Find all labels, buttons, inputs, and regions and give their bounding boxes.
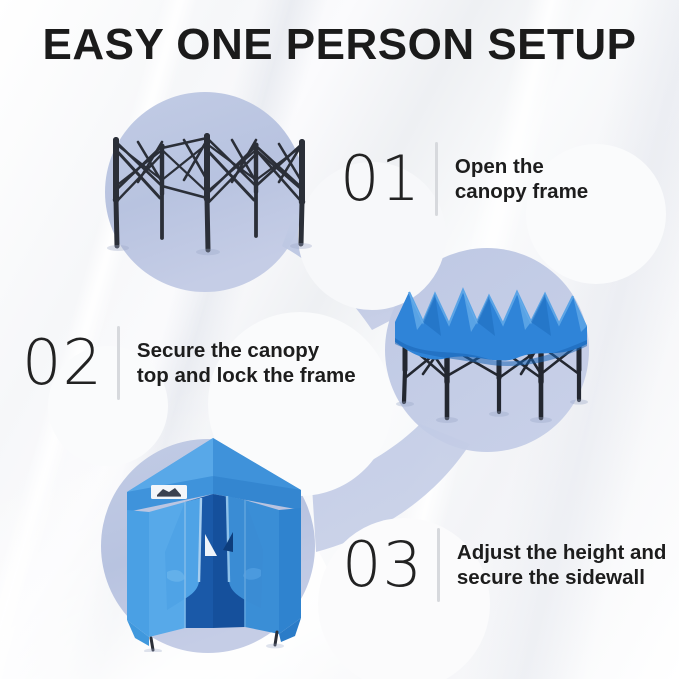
canopy-with-top-illustration bbox=[389, 278, 595, 428]
step-divider bbox=[117, 326, 120, 400]
step-03: 03 Adjust the height and secure the side… bbox=[342, 528, 666, 602]
step-number-02: 02 bbox=[22, 331, 103, 395]
infographic-canvas: EASY ONE PERSON SETUP 01 Open the canopy… bbox=[0, 0, 679, 679]
step-02: 02 Secure the canopy top and lock the fr… bbox=[22, 326, 356, 400]
canopy-frame-illustration bbox=[104, 120, 314, 265]
step-divider bbox=[437, 528, 440, 602]
step-number-03: 03 bbox=[342, 533, 423, 597]
step-text-02: Secure the canopy top and lock the frame bbox=[137, 338, 356, 388]
step-text-01: Open the canopy frame bbox=[455, 154, 588, 204]
assembled-canopy-tent-illustration bbox=[105, 432, 320, 652]
step-divider bbox=[435, 142, 438, 216]
step-text-03: Adjust the height and secure the sidewal… bbox=[457, 540, 667, 590]
step-number-01: 01 bbox=[340, 147, 421, 211]
page-title: EASY ONE PERSON SETUP bbox=[0, 20, 679, 70]
brand-badge bbox=[151, 485, 187, 499]
step-01: 01 Open the canopy frame bbox=[340, 142, 588, 216]
